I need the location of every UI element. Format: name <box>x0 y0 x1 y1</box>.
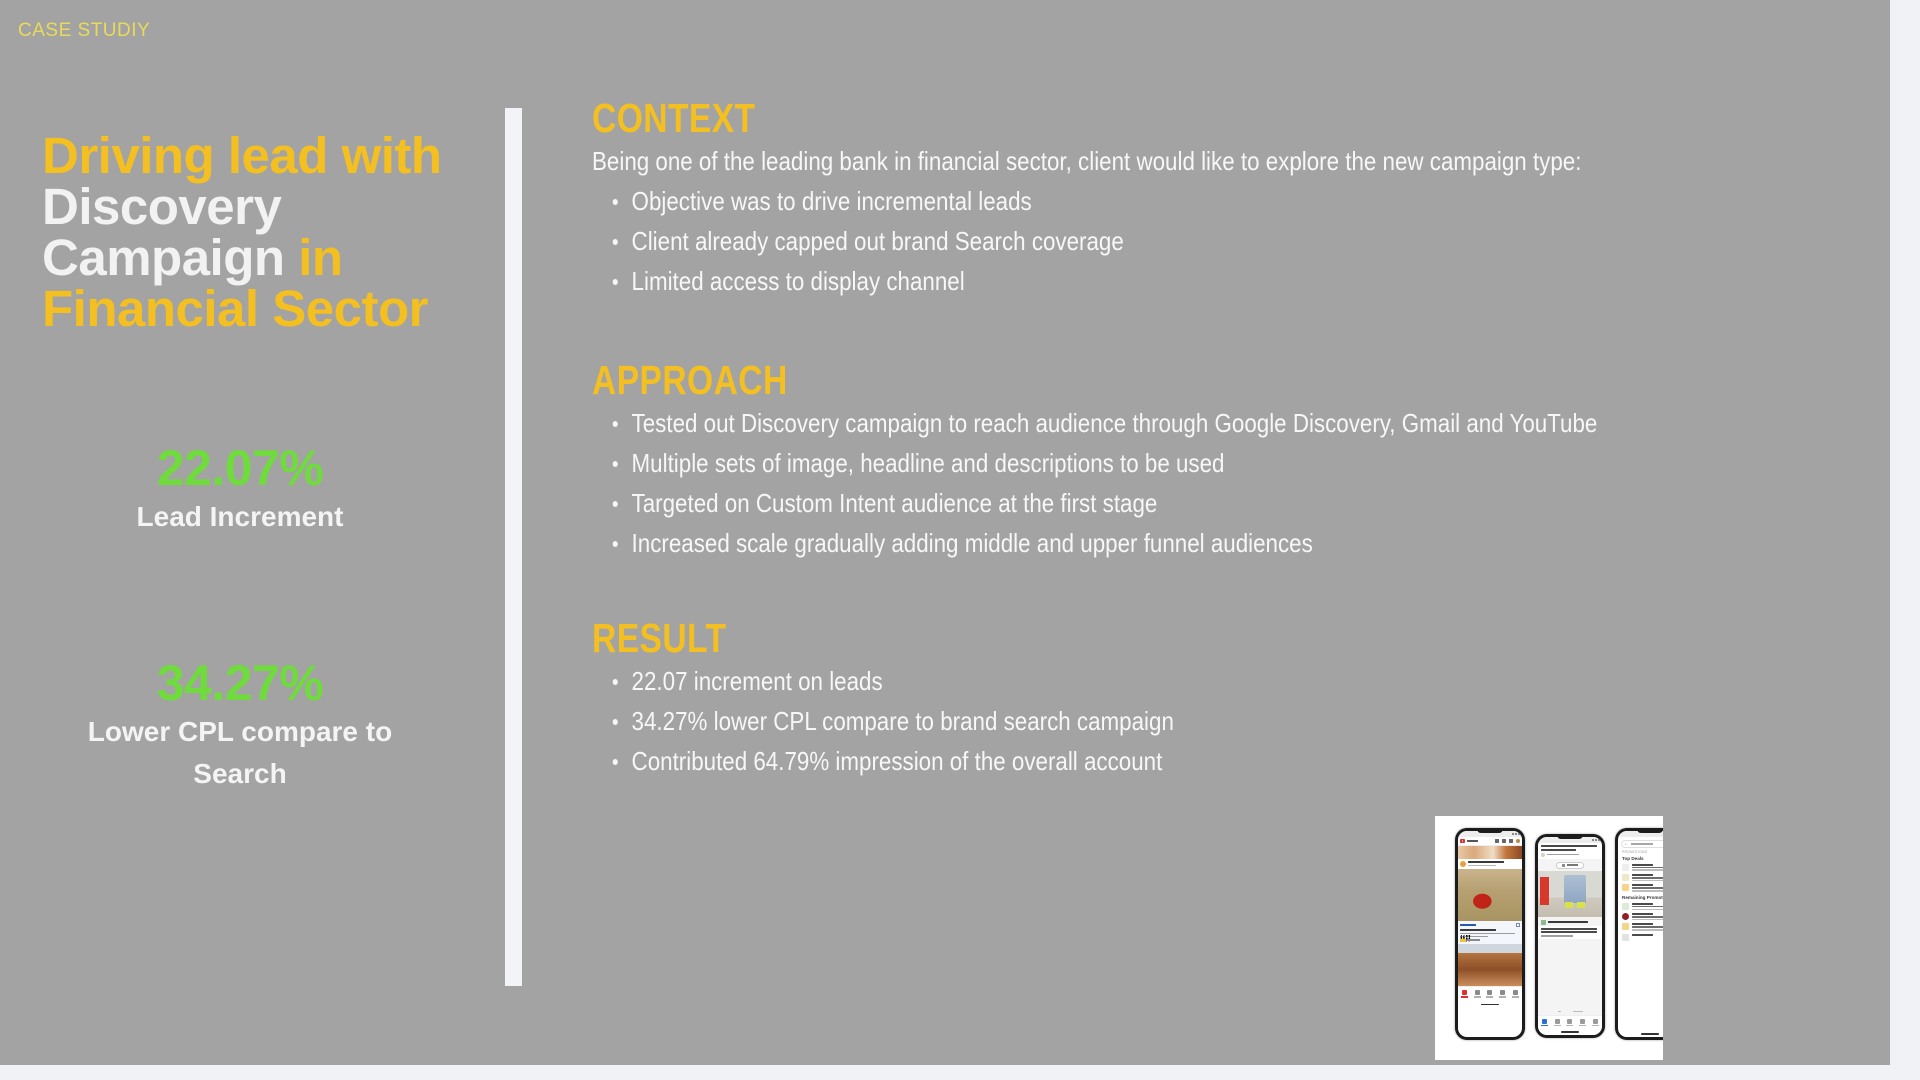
section-approach: APPROACH Tested out Discovery campaign t… <box>592 357 1772 563</box>
list-item: Limited access to display channel <box>592 261 1769 301</box>
search-icon <box>1567 1019 1572 1024</box>
more-icon <box>1593 1019 1598 1024</box>
shoes-chip-button[interactable] <box>1556 862 1584 869</box>
ad-description-block <box>1538 926 1602 939</box>
tab-subscriptions[interactable] <box>1486 990 1493 998</box>
gmail-ad-phone <box>1535 834 1605 1038</box>
stat-block-lead-increment: 22.07% Lead Increment <box>0 440 480 538</box>
list-item[interactable] <box>1618 872 1663 882</box>
ad-advertiser-name <box>1541 935 1573 937</box>
hero-jeans <box>1564 875 1586 903</box>
shelf-thumbnail-strip[interactable] <box>1458 846 1522 859</box>
subscriptions-icon <box>1487 990 1492 995</box>
channel-avatar <box>1460 861 1466 867</box>
search-icon[interactable] <box>1509 839 1513 843</box>
brand-icon <box>1622 913 1629 920</box>
ad-brand-icon <box>1541 920 1546 925</box>
ad-desc-line <box>1460 933 1515 935</box>
hero-heel-right <box>1577 902 1585 908</box>
ad-advertiser-name <box>1468 939 1480 941</box>
tab-trending[interactable] <box>1474 990 1481 998</box>
email-preview-card[interactable] <box>1538 843 1602 859</box>
phone-mockup-image: ← PROMOTIONS Top Deals Remaining P <box>1435 816 1663 1060</box>
section-spacer <box>592 301 1772 357</box>
cast-icon[interactable] <box>1495 839 1499 843</box>
bottom-tab-bar <box>1538 1015 1602 1029</box>
list-item[interactable] <box>1618 901 1663 911</box>
bottom-tab-bar <box>1458 986 1522 1002</box>
tab-more[interactable] <box>1592 1019 1599 1027</box>
ad-badge-icon <box>1460 939 1466 942</box>
brand-icon <box>1622 864 1629 871</box>
list-item: Client already capped out brand Search c… <box>592 221 1769 261</box>
list-item-text <box>1632 884 1663 891</box>
ad-hero-image[interactable] <box>1538 871 1602 917</box>
list-item: Increased scale gradually adding middle … <box>592 523 1769 563</box>
list-item: Tested out Discovery campaign to reach a… <box>592 403 1769 443</box>
stat-value: 34.27% <box>0 655 480 711</box>
home-indicator <box>1538 1029 1602 1035</box>
section-title: RESULT <box>592 615 1560 661</box>
library-icon <box>1513 990 1518 995</box>
ad-desc-line <box>1541 931 1597 933</box>
avatar[interactable] <box>1516 839 1520 843</box>
ad-desc-line <box>1541 928 1597 930</box>
ad-shop-now-row[interactable] <box>1460 923 1520 927</box>
app-bar-icons <box>1495 839 1520 843</box>
list-item: Contributed 64.79% impression of the ove… <box>592 741 1769 781</box>
tab-library[interactable] <box>1512 990 1519 998</box>
more-options-icon[interactable] <box>1518 861 1520 867</box>
list-item-text <box>1632 934 1663 937</box>
list-item[interactable] <box>1618 922 1663 932</box>
list-item: Objective was to drive incremental leads <box>592 181 1769 221</box>
list-item-text <box>1632 913 1663 920</box>
section-bullet-list: Objective was to drive incremental leads… <box>592 181 1769 301</box>
section-result: RESULT 22.07 increment on leads 34.27% l… <box>592 615 1772 781</box>
youtube-logo-icon <box>1460 839 1465 843</box>
section-paragraph: Being one of the leading bank in financi… <box>592 141 1769 181</box>
recent-icon <box>1580 1019 1585 1024</box>
stat-value: 22.07% <box>0 440 480 496</box>
ad-title <box>1548 921 1588 924</box>
video-title-lines <box>1468 861 1516 866</box>
updates-icon <box>1555 1019 1560 1024</box>
hero-red-panel <box>1540 877 1549 905</box>
chip-label <box>1567 864 1578 866</box>
list-item[interactable] <box>1618 883 1663 893</box>
section-heading-remaining-promotions: Remaining Promotions <box>1618 893 1663 901</box>
ad-info-icon[interactable] <box>1516 923 1520 927</box>
headline-part-1: Driving lead with <box>42 127 442 184</box>
brand-icon <box>1622 903 1629 910</box>
tab-search[interactable] <box>1566 1019 1573 1027</box>
list-item: Multiple sets of image, headline and des… <box>592 443 1769 483</box>
stat-label: Lower CPL compare to Search <box>0 711 480 795</box>
home-icon <box>1462 990 1467 995</box>
list-item-text <box>1632 864 1663 871</box>
right-column: CONTEXT Being one of the leading bank in… <box>592 95 1772 781</box>
shop-now-label <box>1460 924 1476 927</box>
video-icon[interactable] <box>1502 839 1506 843</box>
search-placeholder <box>1631 843 1653 845</box>
headline-part-2: Discovery Campaign <box>42 178 285 286</box>
shopping-bag-icon <box>1562 864 1565 867</box>
back-arrow-icon[interactable]: ← <box>1624 842 1629 847</box>
list-item[interactable] <box>1618 932 1663 942</box>
stat-label: Lead Increment <box>0 496 480 538</box>
page-title: Driving lead with Discovery Campaign in … <box>0 130 480 334</box>
gmail-promotions-phone: ← PROMOTIONS Top Deals Remaining P <box>1615 828 1663 1040</box>
youtube-feed-phone <box>1455 828 1525 1040</box>
ad-title-row <box>1538 917 1602 926</box>
tab-inbox[interactable] <box>1499 990 1506 998</box>
section-title: CONTEXT <box>592 95 1560 141</box>
list-item-text <box>1632 923 1663 930</box>
home-indicator <box>1458 1002 1522 1008</box>
section-title: APPROACH <box>592 357 1560 403</box>
headline-part-3: in <box>285 229 343 286</box>
tab-updates[interactable] <box>1554 1019 1561 1027</box>
search-input[interactable]: ← <box>1621 840 1663 848</box>
section-bullet-list: 22.07 increment on leads 34.27% lower CP… <box>592 661 1769 781</box>
pagination-indicator <box>1538 1008 1602 1015</box>
list-item[interactable] <box>1618 862 1663 872</box>
list-item-text <box>1632 874 1663 881</box>
inbox-icon <box>1500 990 1505 995</box>
phone-screen <box>1538 837 1602 1035</box>
email-subject-line <box>1541 849 1576 851</box>
hero-heel-left <box>1565 902 1573 908</box>
brand-icon <box>1622 884 1629 891</box>
phone-notch <box>1477 828 1503 833</box>
mail-icon <box>1542 1019 1547 1024</box>
email-sender-row <box>1541 853 1599 857</box>
youtube-app-bar <box>1458 837 1522 846</box>
list-item: 34.27% lower CPL compare to brand search… <box>592 701 1769 741</box>
tab-mail[interactable] <box>1541 1019 1548 1027</box>
brand-icon <box>1622 874 1629 881</box>
slide-canvas: CASE STUDIY Driving lead with Discovery … <box>0 0 1890 1065</box>
ad-advertiser-row <box>1541 935 1599 937</box>
video-thumbnail[interactable] <box>1458 869 1522 921</box>
section-heading-top-deals: Top Deals <box>1618 854 1663 862</box>
trending-icon <box>1475 990 1480 995</box>
phone-screen: ← PROMOTIONS Top Deals Remaining P <box>1618 831 1663 1037</box>
youtube-wordmark <box>1467 840 1478 843</box>
left-column: Driving lead with Discovery Campaign in … <box>0 130 480 334</box>
sender-avatar <box>1541 853 1545 857</box>
phone-notch <box>1637 828 1663 833</box>
vertical-divider <box>505 108 522 986</box>
list-item: 22.07 increment on leads <box>592 661 1769 701</box>
next-video-thumbnail[interactable] <box>1458 944 1522 986</box>
list-item: Targeted on Custom Intent audience at th… <box>592 483 1769 523</box>
list-item-text <box>1632 903 1663 910</box>
sender-name <box>1547 854 1579 856</box>
tab-home[interactable] <box>1461 990 1468 998</box>
tab-recent[interactable] <box>1579 1019 1586 1027</box>
brand-icon <box>1622 934 1629 941</box>
phone-screen <box>1458 831 1522 1037</box>
eyebrow-label: CASE STUDIY <box>18 20 150 42</box>
brand-icon <box>1622 923 1629 930</box>
phone-notch <box>1557 834 1583 839</box>
ad-card[interactable] <box>1458 921 1522 944</box>
section-spacer <box>592 563 1772 615</box>
section-bullet-list: Tested out Discovery campaign to reach a… <box>592 403 1769 563</box>
headline-part-4: Financial Sector <box>42 280 428 337</box>
email-subject-line <box>1541 845 1597 847</box>
home-indicator <box>1618 1031 1663 1037</box>
ad-title <box>1460 929 1496 931</box>
section-context: CONTEXT Being one of the leading bank in… <box>592 95 1772 301</box>
list-item[interactable] <box>1618 911 1663 921</box>
stat-block-lower-cpl: 34.27% Lower CPL compare to Search <box>0 655 480 795</box>
ad-desc-line <box>1460 936 1488 938</box>
video-row-header <box>1458 859 1522 869</box>
